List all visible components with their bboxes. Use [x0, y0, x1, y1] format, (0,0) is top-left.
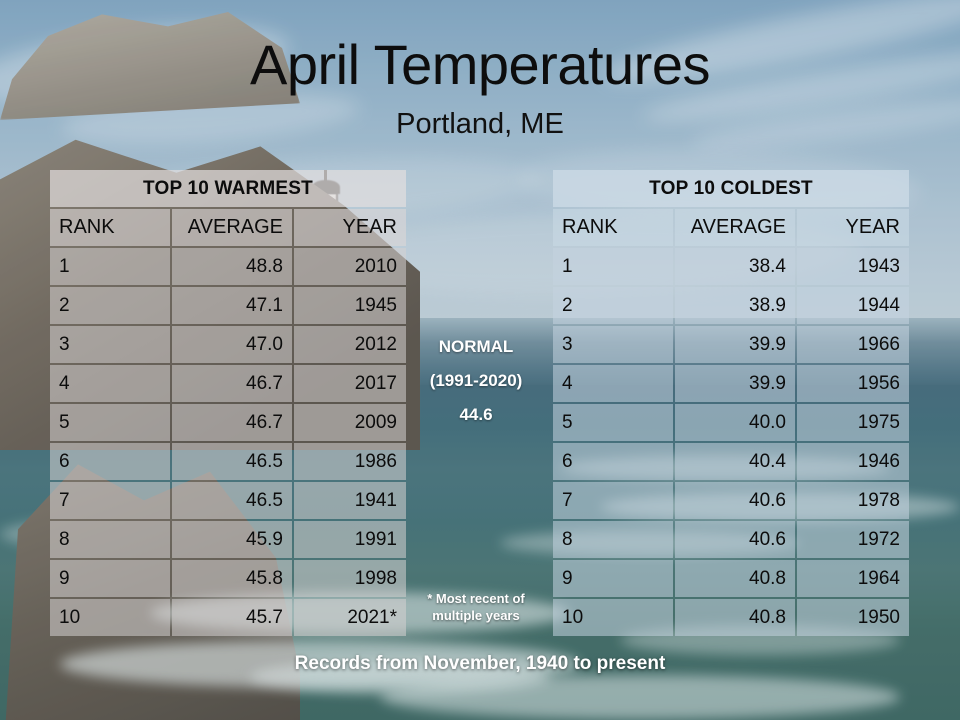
page-title: April Temperatures	[0, 32, 960, 97]
table-row: 845.91991	[50, 521, 406, 558]
cell-rank: 8	[50, 521, 170, 558]
cell-average: 40.6	[675, 482, 795, 519]
table-row: 740.61978	[553, 482, 909, 519]
table-top-10-coldest: TOP 10 COLDESTRANKAVERAGEYEAR138.4194323…	[551, 168, 911, 638]
cell-average: 39.9	[675, 365, 795, 402]
table-row: 746.51941	[50, 482, 406, 519]
cell-year: 2021*	[294, 599, 406, 636]
cell-rank: 7	[50, 482, 170, 519]
cell-rank: 7	[553, 482, 673, 519]
cell-rank: 9	[50, 560, 170, 597]
cell-rank: 5	[553, 404, 673, 441]
cell-average: 46.5	[172, 482, 292, 519]
column-header-rank: RANK	[50, 209, 170, 246]
table-caption: TOP 10 WARMEST	[50, 170, 406, 207]
cell-year: 2010	[294, 248, 406, 285]
cell-rank: 6	[553, 443, 673, 480]
cell-year: 1986	[294, 443, 406, 480]
cell-rank: 3	[553, 326, 673, 363]
table-top-10-warmest: TOP 10 WARMESTRANKAVERAGEYEAR148.8201024…	[48, 168, 408, 638]
table-row: 646.51986	[50, 443, 406, 480]
table-row: 1045.72021*	[50, 599, 406, 636]
table-header-row: RANKAVERAGEYEAR	[50, 209, 406, 246]
cell-average: 40.6	[675, 521, 795, 558]
cell-year: 1972	[797, 521, 909, 558]
cell-year: 1998	[294, 560, 406, 597]
table-row: 546.72009	[50, 404, 406, 441]
normal-period: (1991-2020)	[408, 364, 544, 398]
column-header-average: AVERAGE	[675, 209, 795, 246]
cell-year: 1991	[294, 521, 406, 558]
cell-year: 1945	[294, 287, 406, 324]
cell-year: 1944	[797, 287, 909, 324]
cell-average: 46.7	[172, 404, 292, 441]
cell-year: 1941	[294, 482, 406, 519]
cell-rank: 1	[50, 248, 170, 285]
column-header-year: YEAR	[797, 209, 909, 246]
table-row: 138.41943	[553, 248, 909, 285]
cell-average: 40.4	[675, 443, 795, 480]
table-caption-row: TOP 10 WARMEST	[50, 170, 406, 207]
cell-rank: 4	[50, 365, 170, 402]
normal-value-block: NORMAL (1991-2020) 44.6	[408, 330, 544, 432]
table-row: 940.81964	[553, 560, 909, 597]
table-row: 339.91966	[553, 326, 909, 363]
cell-average: 45.8	[172, 560, 292, 597]
footnote-line-1: * Most recent of	[408, 590, 544, 607]
normal-value: 44.6	[408, 398, 544, 432]
records-period-note: Records from November, 1940 to present	[0, 653, 960, 675]
cell-year: 1956	[797, 365, 909, 402]
footnote: * Most recent of multiple years	[408, 590, 544, 624]
column-header-average: AVERAGE	[172, 209, 292, 246]
cell-average: 40.0	[675, 404, 795, 441]
cell-average: 38.9	[675, 287, 795, 324]
table-caption: TOP 10 COLDEST	[553, 170, 909, 207]
cell-average: 39.9	[675, 326, 795, 363]
table-row: 247.11945	[50, 287, 406, 324]
cell-year: 2017	[294, 365, 406, 402]
cell-year: 1946	[797, 443, 909, 480]
table-row: 347.02012	[50, 326, 406, 363]
page-subtitle: Portland, ME	[0, 108, 960, 141]
table-row: 540.01975	[553, 404, 909, 441]
column-header-rank: RANK	[553, 209, 673, 246]
table-row: 238.91944	[553, 287, 909, 324]
cell-average: 46.5	[172, 443, 292, 480]
cell-average: 45.9	[172, 521, 292, 558]
cell-rank: 10	[50, 599, 170, 636]
cell-average: 45.7	[172, 599, 292, 636]
column-header-year: YEAR	[294, 209, 406, 246]
cell-rank: 3	[50, 326, 170, 363]
cell-rank: 6	[50, 443, 170, 480]
footnote-line-2: multiple years	[408, 607, 544, 624]
table-row: 439.91956	[553, 365, 909, 402]
cell-year: 1950	[797, 599, 909, 636]
cell-rank: 4	[553, 365, 673, 402]
cell-year: 2009	[294, 404, 406, 441]
cell-average: 47.0	[172, 326, 292, 363]
cell-rank: 5	[50, 404, 170, 441]
cell-year: 1964	[797, 560, 909, 597]
cell-rank: 10	[553, 599, 673, 636]
cell-year: 1975	[797, 404, 909, 441]
table-row: 446.72017	[50, 365, 406, 402]
table-row: 148.82010	[50, 248, 406, 285]
table-row: 945.81998	[50, 560, 406, 597]
table-caption-row: TOP 10 COLDEST	[553, 170, 909, 207]
cell-year: 1966	[797, 326, 909, 363]
cell-rank: 8	[553, 521, 673, 558]
cell-average: 40.8	[675, 599, 795, 636]
cell-rank: 9	[553, 560, 673, 597]
table-header-row: RANKAVERAGEYEAR	[553, 209, 909, 246]
cell-average: 46.7	[172, 365, 292, 402]
cell-year: 1943	[797, 248, 909, 285]
cell-average: 47.1	[172, 287, 292, 324]
normal-label: NORMAL	[408, 330, 544, 364]
cell-year: 2012	[294, 326, 406, 363]
cell-average: 38.4	[675, 248, 795, 285]
table-row: 840.61972	[553, 521, 909, 558]
cell-average: 40.8	[675, 560, 795, 597]
table-row: 640.41946	[553, 443, 909, 480]
cell-rank: 1	[553, 248, 673, 285]
cell-year: 1978	[797, 482, 909, 519]
table-row: 1040.81950	[553, 599, 909, 636]
cell-rank: 2	[50, 287, 170, 324]
cell-rank: 2	[553, 287, 673, 324]
cell-average: 48.8	[172, 248, 292, 285]
